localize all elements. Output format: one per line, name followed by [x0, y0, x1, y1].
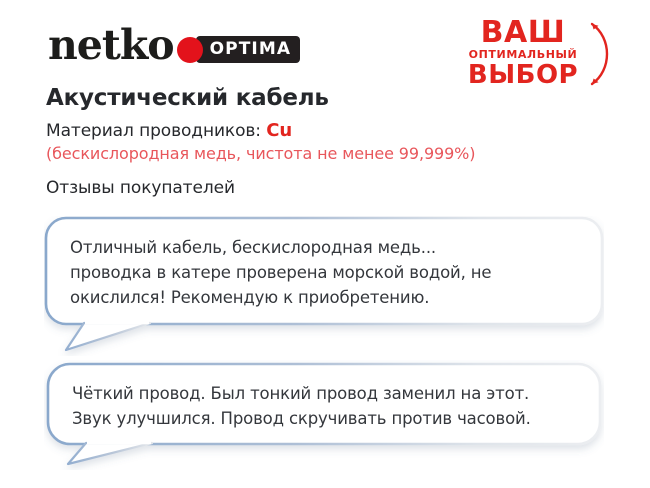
- badge-text-block: ВАШ ОПТИМАЛЬНЫЙ ВЫБОР: [462, 18, 584, 89]
- logo-wordmark: netko: [48, 25, 174, 66]
- review-bubble-1: Отличный кабель, бескислородная медь... …: [44, 216, 604, 356]
- page-title: Акустический кабель: [46, 85, 329, 111]
- review-bubble-2-text: Чёткий провод. Был тонкий провод заменил…: [72, 381, 531, 431]
- optima-label: OPTIMA: [210, 41, 292, 58]
- best-choice-badge: ВАШ ОПТИМАЛЬНЫЙ ВЫБОР: [462, 18, 622, 90]
- material-line: Материал проводников: Cu: [46, 120, 292, 141]
- review-bubble-2: Чёткий провод. Был тонкий провод заменил…: [44, 360, 604, 470]
- bracket-arc-icon: [586, 18, 622, 90]
- netko-optima-logo: netko OPTIMA: [48, 22, 300, 68]
- review-bubble-1-text: Отличный кабель, бескислородная медь... …: [70, 235, 491, 310]
- badge-line-1: ВАШ: [462, 18, 584, 48]
- reviews-heading: Отзывы покупателей: [46, 178, 235, 198]
- badge-line-3: ВЫБОР: [462, 62, 584, 89]
- red-dot-icon: [177, 37, 203, 63]
- material-label: Материал проводников:: [46, 121, 261, 141]
- purity-note: (бескислородная медь, чистота не менее 9…: [46, 144, 475, 163]
- material-value: Cu: [266, 120, 292, 141]
- optima-bar: OPTIMA: [196, 36, 301, 63]
